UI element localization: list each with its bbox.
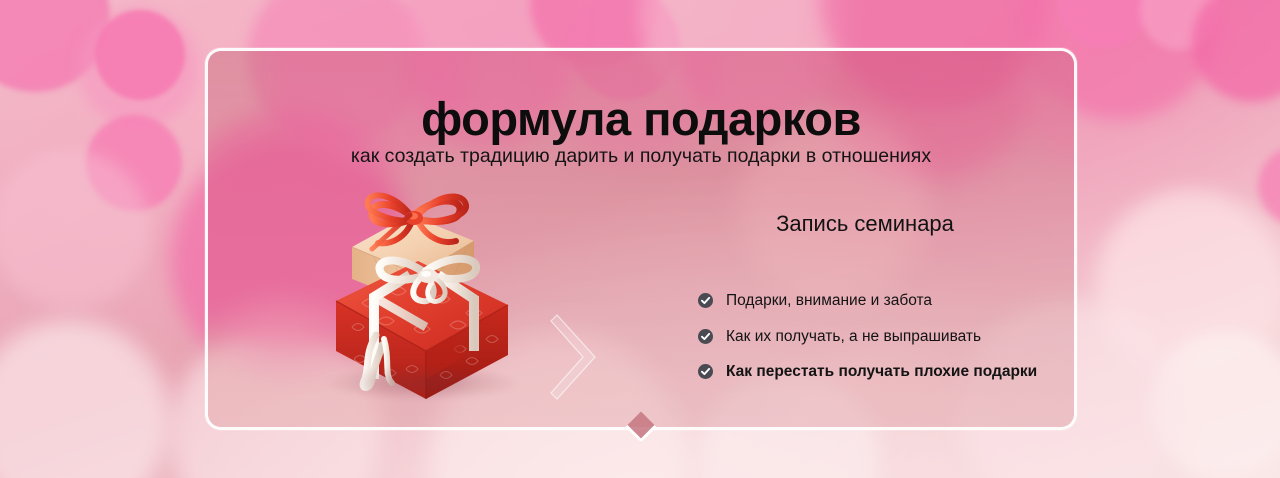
check-circle-icon (698, 364, 713, 379)
gift-boxes-image (314, 179, 534, 409)
gift-drop-shadow (322, 365, 522, 401)
promo-card: формула подарков как создать традицию да… (205, 48, 1077, 430)
check-circle-icon (698, 329, 713, 344)
bokeh-circle (1258, 146, 1280, 226)
bokeh-circle (1192, 0, 1280, 102)
list-item: Как перестать получать плохие подарки (698, 362, 1056, 381)
bokeh-circle (0, 320, 170, 478)
bokeh-circle (0, 150, 150, 310)
check-circle-icon (698, 293, 713, 308)
bokeh-circle (95, 10, 185, 100)
list-item-label: Как их получать, а не выпрашивать (726, 328, 981, 345)
list-item: Подарки, внимание и забота (698, 291, 1056, 310)
list-item: Как их получать, а не выпрашивать (698, 327, 1056, 346)
chevron-right-icon (549, 309, 601, 405)
feature-list: Подарки, внимание и забота Как их получа… (674, 291, 1056, 381)
section-heading: Запись семинара (674, 211, 1056, 237)
list-item-label: Подарки, внимание и забота (726, 292, 932, 309)
banner-root: формула подарков как создать традицию да… (0, 0, 1280, 478)
offer-column: Запись семинара Подарки, внимание и забо… (674, 211, 1056, 382)
list-item-label: Как перестать получать плохие подарки (726, 363, 1037, 380)
